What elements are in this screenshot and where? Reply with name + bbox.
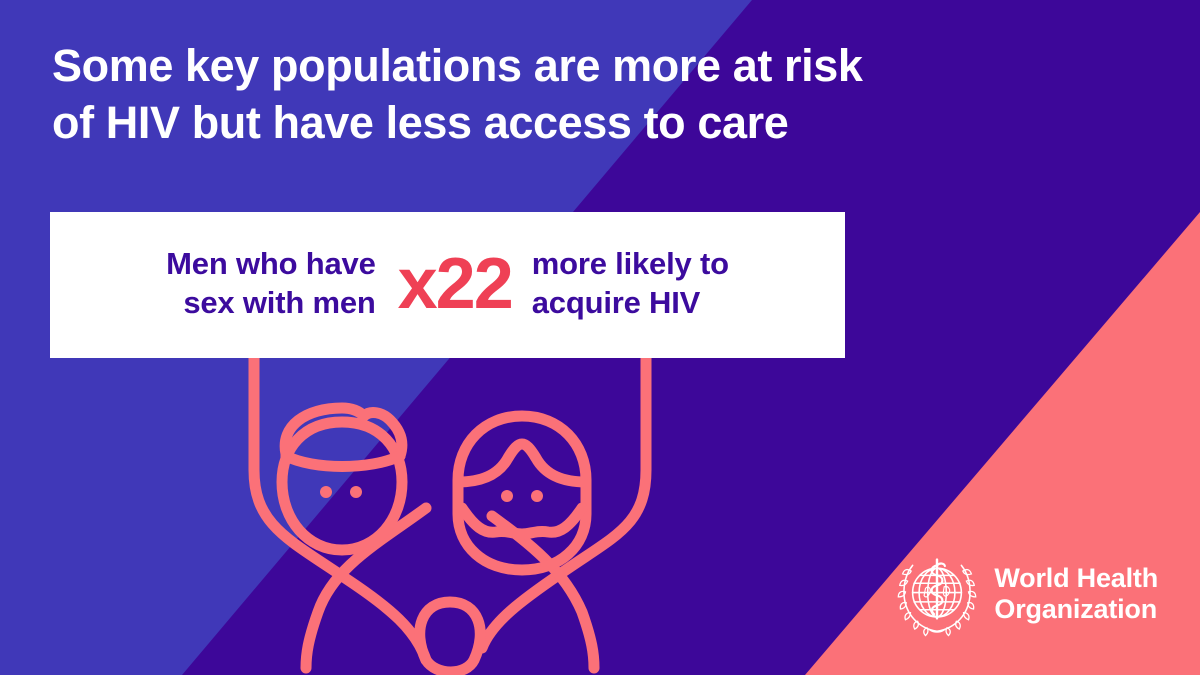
page-title: Some key populations are more at risk of…	[52, 38, 1112, 151]
right-figure-right-arm-and-body	[482, 356, 646, 648]
right-figure-beard	[462, 508, 582, 534]
statistic-population-label: Men who have sex with men	[166, 244, 397, 323]
who-organization-name: World Health Organization	[994, 563, 1158, 625]
crossed-bodies-loop	[420, 602, 481, 672]
right-figure-eye-left	[501, 490, 513, 502]
left-figure-eye-left	[320, 486, 332, 498]
right-figure-hair-fringe	[458, 444, 586, 482]
who-emblem-icon	[894, 551, 980, 637]
right-figure-eye-right	[531, 490, 543, 502]
left-figure-eye-right	[350, 486, 362, 498]
two-men-illustration	[230, 330, 680, 675]
left-figure-head	[282, 422, 402, 550]
statistic-card: Men who have sex with men x22 more likel…	[50, 212, 845, 358]
infographic-poster: Some key populations are more at risk of…	[0, 0, 1200, 675]
statistic-multiplier-value: x22	[398, 248, 512, 320]
who-logo: World Health Organization	[894, 551, 1158, 637]
left-figure-hairline	[286, 456, 400, 467]
statistic-risk-label: more likely to acquire HIV	[512, 244, 729, 323]
